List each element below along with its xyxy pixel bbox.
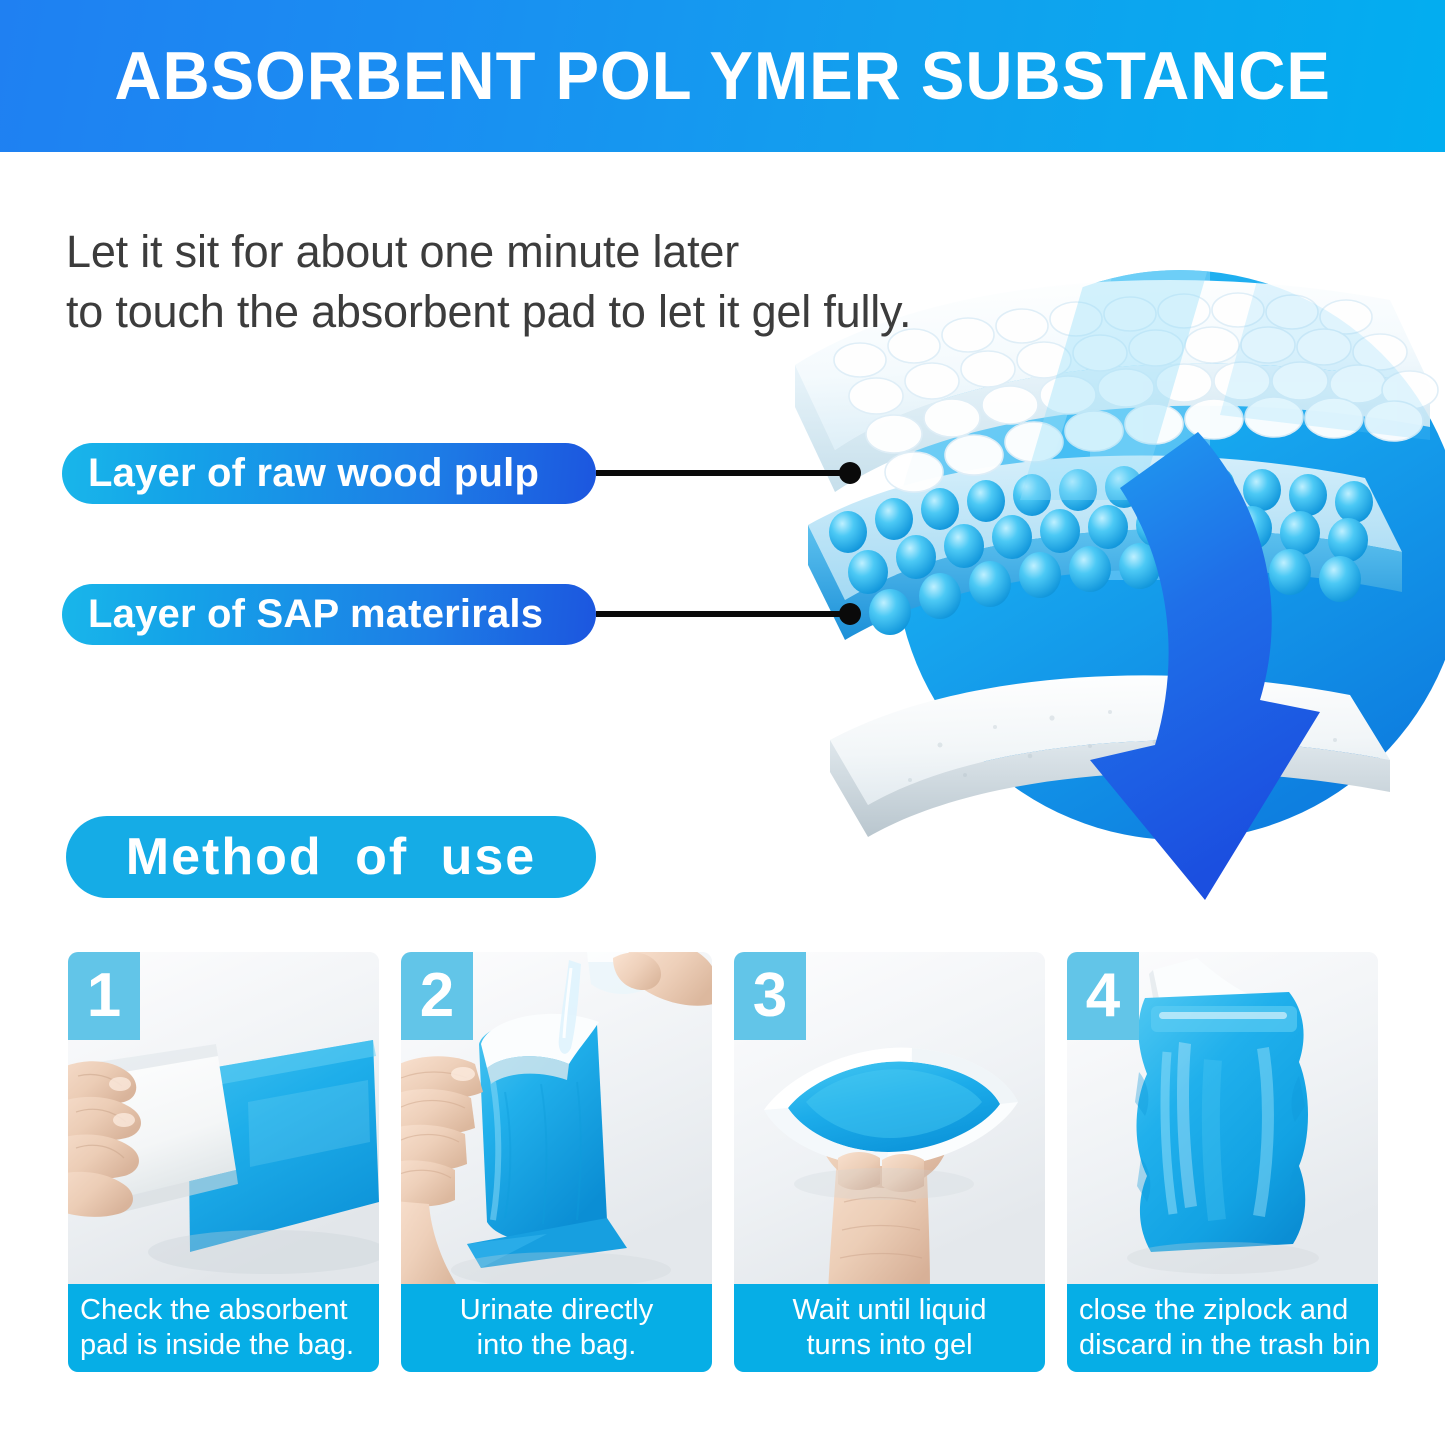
intro-line-1: Let it sit for about one minute later — [66, 222, 1116, 282]
step-caption-4-line-2: discard in the trash bin — [1079, 1328, 1371, 1363]
connector-dot-pulp — [839, 462, 861, 484]
intro-text: Let it sit for about one minute later to… — [66, 222, 1116, 342]
step-panel-2[interactable]: 2 Urinate directly into the bag. — [401, 952, 712, 1372]
label-layer-sap-materials: Layer of SAP materirals — [62, 584, 596, 645]
step-caption-3: Wait until liquid turns into gel — [734, 1284, 1045, 1372]
intro-line-2: to touch the absorbent pad to let it gel… — [66, 282, 1116, 342]
page-title: ABSORBENT POL YMER SUBSTANCE — [0, 42, 1445, 110]
label-sap-text: Layer of SAP materirals — [88, 592, 543, 637]
step-number-badge-3: 3 — [734, 952, 806, 1040]
step-number-badge-1: 1 — [68, 952, 140, 1040]
connector-line-sap — [596, 611, 852, 617]
step-caption-2-line-2: into the bag. — [477, 1328, 637, 1363]
step-caption-4-line-1: close the ziplock and — [1079, 1293, 1348, 1328]
page-header: ABSORBENT POL YMER SUBSTANCE — [0, 0, 1445, 152]
connector-line-pulp — [596, 470, 852, 476]
method-of-use-heading: Method of use — [66, 816, 596, 898]
method-of-use-text: Method of use — [126, 827, 536, 887]
page-title-text: ABSORBENT POL YMER SUBSTANCE — [114, 42, 1331, 110]
step-caption-2-line-1: Urinate directly — [460, 1293, 653, 1328]
step-caption-4: close the ziplock and discard in the tra… — [1067, 1284, 1378, 1372]
step-panel-1[interactable]: 1 Check the absorbent pad is inside the … — [68, 952, 379, 1372]
connector-dot-sap — [839, 603, 861, 625]
step-number-badge-4: 4 — [1067, 952, 1139, 1040]
method-steps-gallery: 1 Check the absorbent pad is inside the … — [68, 952, 1378, 1372]
step-panel-3[interactable]: 3 Wait until liquid turns into gel — [734, 952, 1045, 1372]
step-number-badge-2: 2 — [401, 952, 473, 1040]
step-caption-3-line-2: turns into gel — [806, 1328, 972, 1363]
step-caption-1-line-1: Check the absorbent — [80, 1293, 348, 1328]
step-panel-4[interactable]: 4 close the ziplock and discard in the t… — [1067, 952, 1378, 1372]
step-caption-1: Check the absorbent pad is inside the ba… — [68, 1284, 379, 1372]
label-pulp-text: Layer of raw wood pulp — [88, 451, 539, 496]
step-caption-2: Urinate directly into the bag. — [401, 1284, 712, 1372]
step-caption-3-line-1: Wait until liquid — [793, 1293, 987, 1328]
step-caption-1-line-2: pad is inside the bag. — [80, 1328, 354, 1363]
label-layer-raw-wood-pulp: Layer of raw wood pulp — [62, 443, 596, 504]
